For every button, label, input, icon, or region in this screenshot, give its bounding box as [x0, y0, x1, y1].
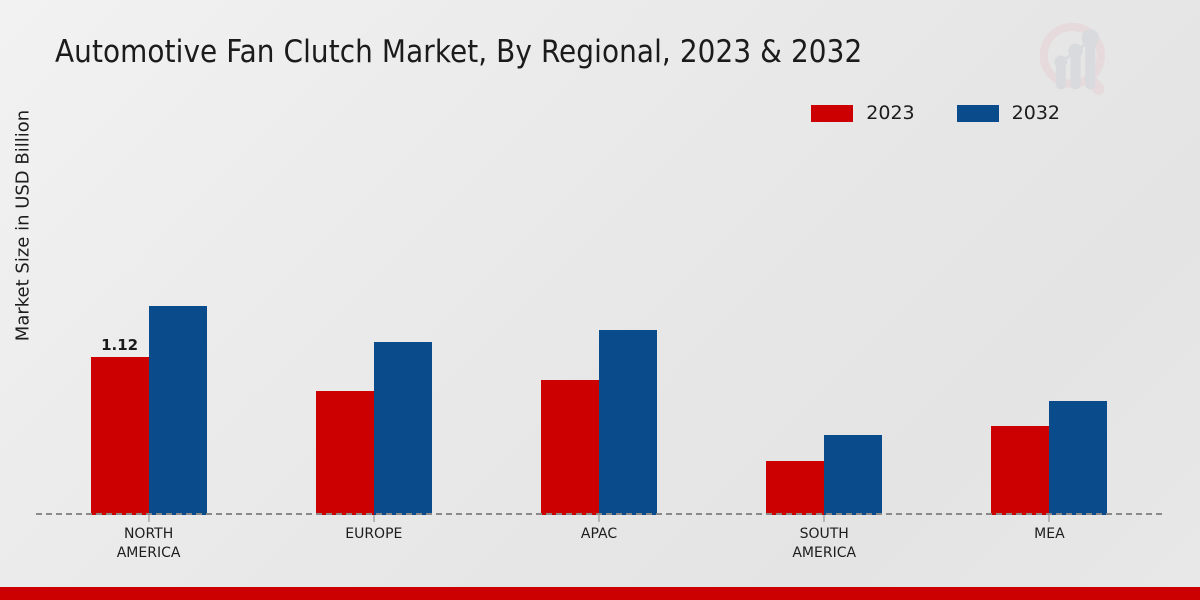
bar-group-apac: APAC: [486, 140, 711, 515]
x-label-south-america: SOUTH AMERICA: [792, 525, 856, 563]
bar-group-south-america: SOUTH AMERICA: [712, 140, 937, 515]
legend-swatch-icon-2032: [957, 105, 999, 122]
magnifier-bar-chart-logo-icon: [1030, 14, 1122, 106]
bar-2032-mea[interactable]: [1049, 401, 1107, 515]
x-tick-south-america: [824, 515, 825, 522]
bar-group-north-america: 1.12 NORTH AMERICA: [36, 140, 261, 515]
x-label-north-america: NORTH AMERICA: [117, 525, 181, 563]
bar-2032-europe[interactable]: [374, 342, 432, 515]
x-label-europe: EUROPE: [345, 525, 402, 544]
bar-2023-europe[interactable]: [316, 391, 374, 515]
x-tick-mea: [1049, 515, 1050, 522]
x-axis-baseline: [36, 513, 1162, 515]
legend-item-2023[interactable]: 2023: [811, 104, 914, 123]
bar-value-label-north-america-2023: 1.12: [101, 336, 138, 354]
bar-2023-apac[interactable]: [541, 380, 599, 515]
bar-2023-south-america[interactable]: [766, 461, 824, 515]
legend-label-2032: 2032: [1012, 104, 1060, 123]
chart-title: Automotive Fan Clutch Market, By Regiona…: [55, 34, 862, 70]
x-label-mea: MEA: [1034, 525, 1065, 544]
legend-swatch-icon-2023: [811, 105, 853, 122]
bar-group-europe: EUROPE: [261, 140, 486, 515]
x-label-apac: APAC: [581, 525, 617, 544]
legend-label-2023: 2023: [866, 104, 914, 123]
y-axis-title: Market Size in USD Billion: [13, 61, 34, 391]
bar-2023-north-america[interactable]: 1.12: [91, 357, 149, 515]
bar-2023-mea[interactable]: [991, 426, 1049, 515]
x-tick-north-america: [148, 515, 149, 522]
bottom-accent-band: [0, 587, 1200, 600]
chart-legend: 2023 2032: [811, 104, 1060, 123]
bar-2032-apac[interactable]: [599, 330, 657, 515]
x-tick-europe: [373, 515, 374, 522]
chart-page: Automotive Fan Clutch Market, By Regiona…: [0, 0, 1200, 600]
legend-item-2032[interactable]: 2032: [957, 104, 1060, 123]
bar-2032-north-america[interactable]: [149, 306, 207, 515]
plot-area: 1.12 NORTH AMERICA EUROPE: [36, 140, 1162, 515]
bar-group-mea: MEA: [937, 140, 1162, 515]
bar-groups: 1.12 NORTH AMERICA EUROPE: [36, 140, 1162, 515]
x-tick-apac: [599, 515, 600, 522]
bar-2032-south-america[interactable]: [824, 435, 882, 515]
